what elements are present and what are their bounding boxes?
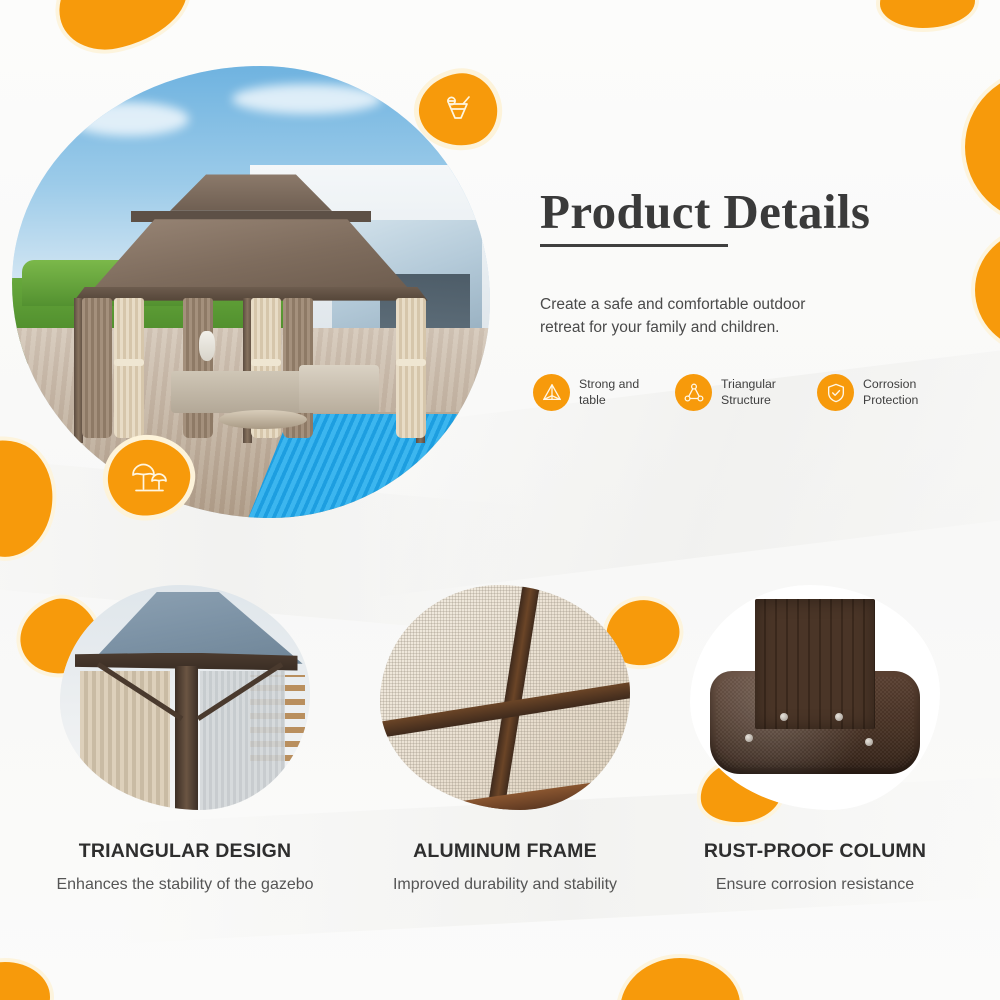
gazebo [50,174,452,454]
gazebo-roof-vent [139,174,364,210]
feature-card-aluminum-frame: ALUMINUM FRAME Improved durability and s… [345,585,665,897]
decorative-blob-top-right [880,0,975,28]
feature-description: Enhances the stability of the gazebo [25,874,345,897]
floor-vase [199,331,215,361]
badge-label: Triangular Structure [721,377,799,408]
curtain-tie [251,359,281,366]
column-post [755,599,875,730]
decorative-blob-bottom [620,958,740,1000]
feature-description: Ensure corrosion resistance [655,874,975,897]
cloud [232,84,382,114]
title-underline [540,244,728,247]
decorative-blob-bottom-left [0,962,50,1000]
feature-title: TRIANGULAR DESIGN [25,840,345,863]
feature-card-triangular-design: TRIANGULAR DESIGN Enhances the stability… [25,585,345,897]
feature-card-rust-proof-column: RUST-PROOF COLUMN Ensure corrosion resis… [655,585,975,897]
column-base-plate-photo [690,585,940,810]
decorative-blob-right-circle-lower [975,230,1000,350]
triangle-nodes-icon [675,374,712,411]
gazebo-curtain [183,298,213,438]
badge-triangular-structure: Triangular Structure [675,374,799,411]
gazebo-roof [50,219,452,292]
hero-scene [12,66,490,518]
anchor-screw [745,734,753,742]
feature-title: ALUMINUM FRAME [345,840,665,863]
corner-column [175,666,198,810]
outdoor-armchair [299,365,379,413]
curtain-tie [114,359,144,366]
pyramid-icon [533,374,570,411]
aluminum-frame-beams-photo [380,585,630,810]
curtain-tie [396,359,426,366]
badge-corrosion-protection: Corrosion Protection [817,374,941,411]
page-title: Product Details [540,186,960,239]
badge-label: Strong and table [579,377,657,408]
gazebo-corner-bracing-photo [60,585,310,810]
badge-label: Corrosion Protection [863,377,941,408]
page-subtitle: Create a safe and comfortable outdoor re… [540,293,850,340]
product-details-banner: Product Details Create a safe and comfor… [0,0,1000,1000]
feature-badges: Strong and table Triangular Structure [533,374,941,411]
gazebo-curtain [396,298,426,438]
shield-check-icon [817,374,854,411]
decorative-blob-top [50,0,196,59]
feature-title: RUST-PROOF COLUMN [655,840,975,863]
badge-strong-and-stable: Strong and table [533,374,657,411]
header-block: Product Details Create a safe and comfor… [540,186,960,340]
feature-description: Improved durability and stability [345,874,665,897]
hero-gazebo-photo [12,66,490,518]
gazebo-curtain [82,298,112,438]
gazebo-curtain [114,298,144,438]
decorative-blob-right-circle [965,72,1000,222]
anchor-screw [865,738,873,746]
curtain-panel [80,671,170,811]
